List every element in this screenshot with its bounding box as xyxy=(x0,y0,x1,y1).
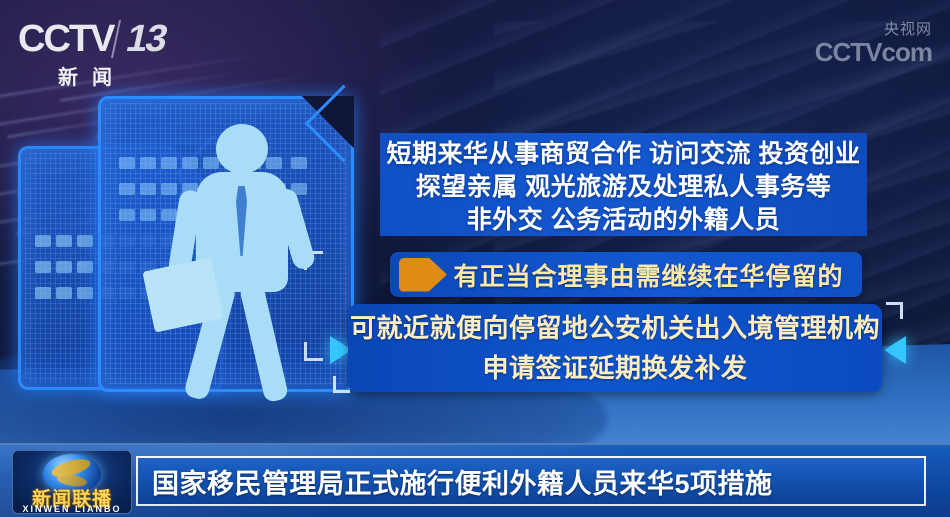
arrow-right-marker-icon xyxy=(399,258,447,292)
figure-head xyxy=(216,124,268,174)
watermark-cn-label: 央视网 xyxy=(815,18,932,39)
headline-frame: 国家移民管理局正式施行便利外籍人员来华5项措施 xyxy=(136,456,926,506)
corner-bracket-icon xyxy=(333,376,350,393)
panel1-line-2: 探望亲属 观光旅游及处理私人事务等 xyxy=(380,171,867,204)
illustration-group xyxy=(0,78,400,418)
info-panel-reason: 有正当合理事由需继续在华停留的 xyxy=(390,252,862,297)
broadcast-screen: CCTV13 新闻 央视网 CCTVcom 短期来华从事商贸合作 访问交流 投资… xyxy=(0,0,950,517)
panel2-text: 有正当合理事由需继续在华停留的 xyxy=(447,257,862,293)
program-logo-xinwen-lianbo: 新闻联播 XINWEN LIANBO xyxy=(12,450,132,514)
watermark-cctv-text: CCTV xyxy=(815,37,882,67)
panel1-line-3: 非外交 公务活动的外籍人员 xyxy=(380,204,867,237)
chevron-left-icon xyxy=(884,336,906,364)
cctv-letters: CCTV xyxy=(18,18,113,60)
cctv-wordmark: CCTV13 xyxy=(18,20,213,58)
headline-text: 国家移民管理局正式施行便利外籍人员来华5项措施 xyxy=(138,458,924,504)
program-name-en: XINWEN LIANBO xyxy=(13,504,131,514)
corner-bracket-icon xyxy=(886,302,903,319)
businessman-icon xyxy=(148,124,338,404)
info-panel-conditions: 短期来华从事商贸合作 访问交流 投资创业 探望亲属 观光旅游及处理私人事务等 非… xyxy=(380,133,867,236)
panel3-line-2: 申请签证延期换发补发 xyxy=(348,348,882,388)
lower-third-bar: 新闻联播 XINWEN LIANBO 国家移民管理局正式施行便利外籍人员来华5项… xyxy=(0,443,950,517)
cctv-com-watermark: 央视网 CCTVcom xyxy=(815,18,932,65)
panel3-line-1: 可就近就便向停留地公安机关出入境管理机构 xyxy=(348,308,882,348)
info-panel-action: 可就近就便向停留地公安机关出入境管理机构 申请签证延期换发补发 xyxy=(348,304,882,392)
figure-leg xyxy=(239,281,289,403)
watermark-domain: CCTVcom xyxy=(815,39,932,65)
channel-number: 13 xyxy=(111,20,169,58)
channel-name-cn: 新闻 xyxy=(58,61,213,90)
cctv13-channel-logo: CCTV13 新闻 xyxy=(18,20,213,84)
watermark-com-text: com xyxy=(882,37,932,67)
panel1-line-1: 短期来华从事商贸合作 访问交流 投资创业 xyxy=(380,138,867,171)
